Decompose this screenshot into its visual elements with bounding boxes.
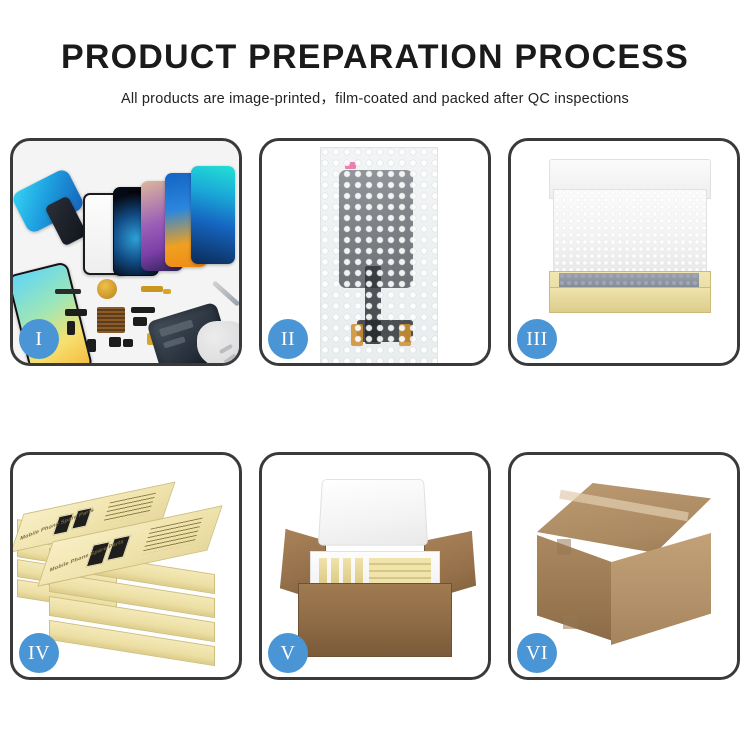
page-title: PRODUCT PREPARATION PROCESS [0,0,750,77]
carton-right-face [611,533,711,645]
step-panel-3: III [508,138,740,366]
part-chip-grid-icon [97,307,125,333]
part-tray-icon [87,339,96,352]
process-steps-grid: I II [10,138,740,680]
tape-tab-top [557,539,571,555]
foam-texture [554,190,706,276]
bubble-texture [321,148,437,363]
part-sensor-icon [123,339,133,347]
step-badge-6: VI [517,633,557,673]
tray-front-wall-icon [549,287,711,313]
part-bracket-icon [55,289,81,294]
lid-spec-lines-1 [103,493,156,524]
part-button-icon [67,321,75,335]
step-badge-5: V [268,633,308,673]
step-badge-1: I [19,319,59,359]
foam-sheet-icon [553,189,707,277]
step-panel-5: V [259,452,491,680]
phone-teal-screen-icon [191,166,235,264]
part-speaker-coil-icon [97,279,117,299]
step-badge-4: IV [19,633,59,673]
bubble-wrap-bag-icon [320,147,438,363]
page-subtitle: All products are image-printed，film-coat… [0,77,750,108]
step-panel-1: I [10,138,242,366]
part-ribbon-icon [131,307,155,313]
step-badge-3: III [517,319,557,359]
step-panel-6: VI [508,452,740,680]
foam-lid-icon [318,479,428,546]
product-preparation-infographic: PRODUCT PREPARATION PROCESS All products… [0,0,750,750]
tweezers-icon [212,280,239,306]
carton-body-icon [298,583,452,657]
step-panel-4: Mobile Phone Spare Parts Mobile Phone Sp… [10,452,242,680]
step-panel-2: II [259,138,491,366]
step-badge-2: II [268,319,308,359]
part-camera-icon [133,317,147,326]
part-vibrator-icon [109,337,121,347]
part-connector-icon [163,289,171,294]
part-flex-cable-icon [141,286,163,292]
part-module-icon [65,309,87,316]
tape-tab-bottom [563,615,577,629]
lid-spec-lines-2 [142,518,203,555]
header: PRODUCT PREPARATION PROCESS All products… [0,0,750,108]
